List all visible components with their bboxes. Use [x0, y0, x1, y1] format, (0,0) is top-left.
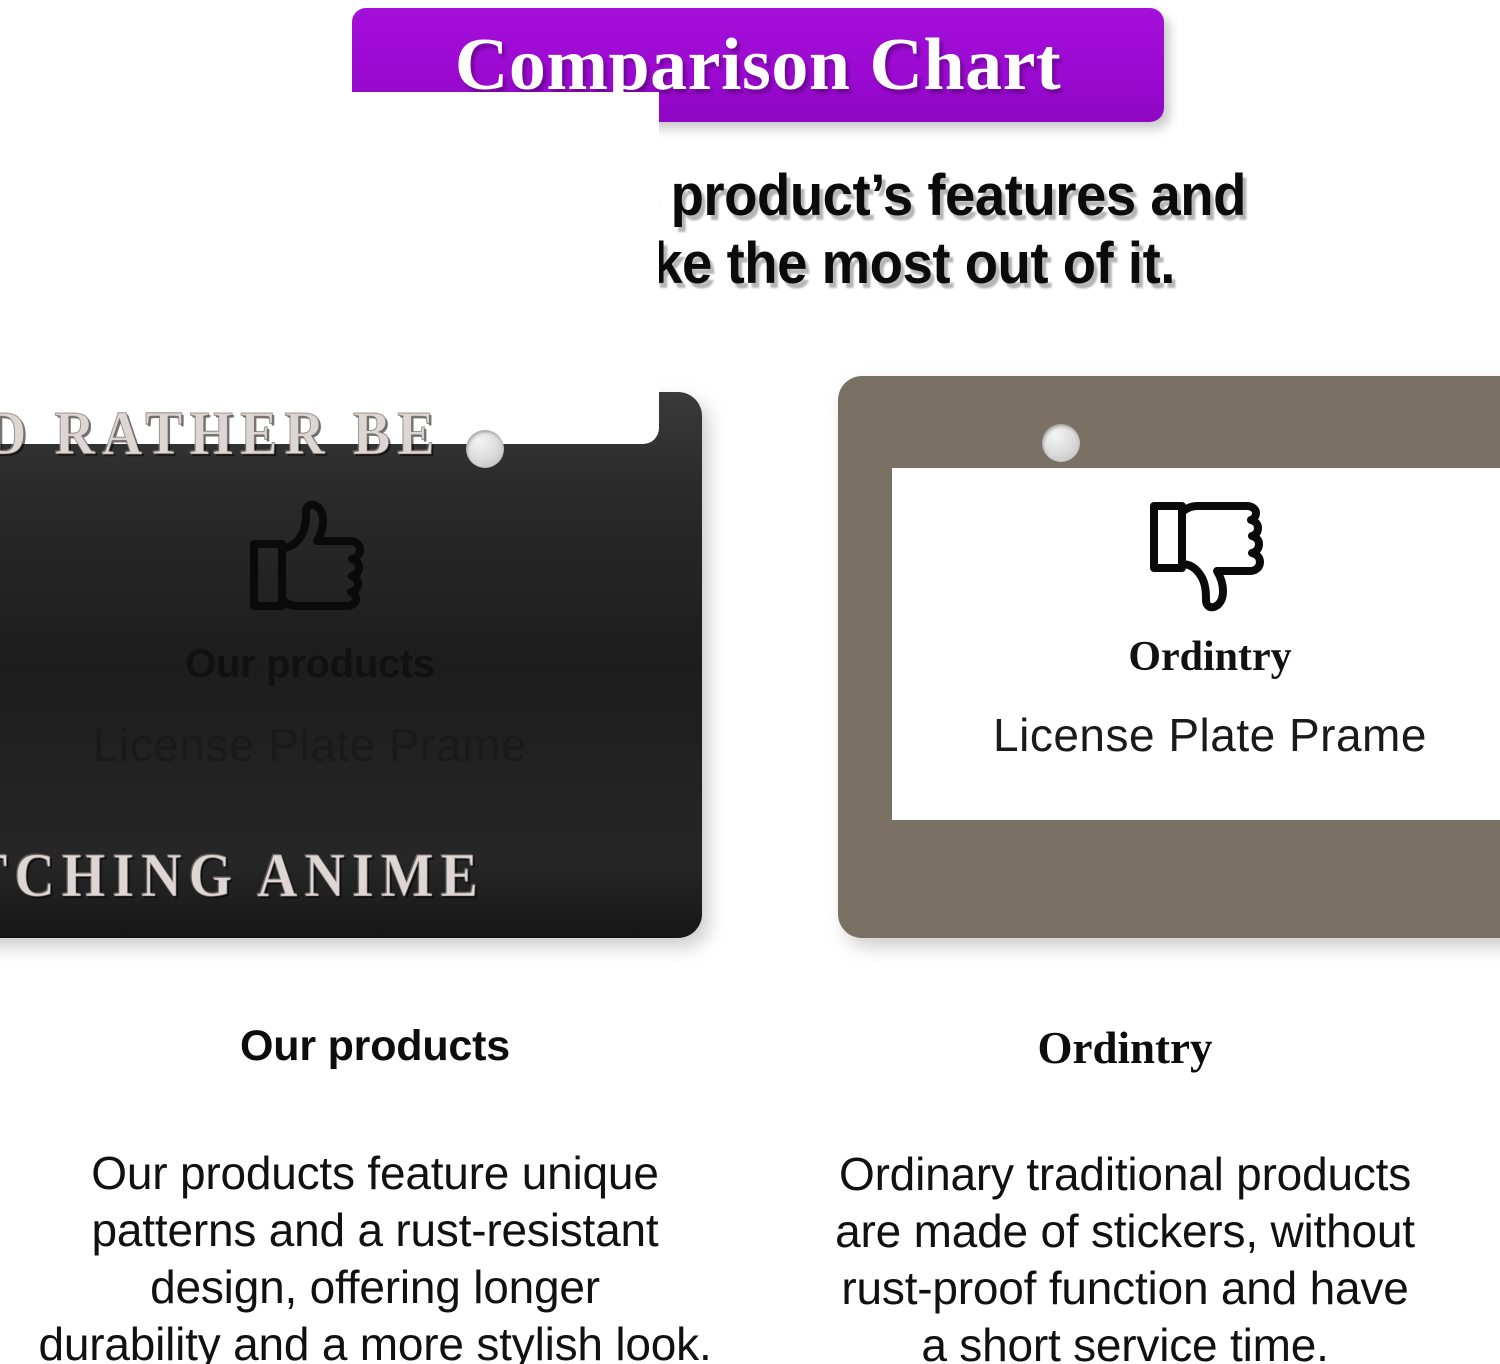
- our-product-type-label: License Plate Prame: [0, 720, 620, 771]
- column-body-our-products: Our products feature unique patterns and…: [36, 1145, 714, 1364]
- body-line: a short service time.: [786, 1317, 1464, 1364]
- our-product-brand-label: Our products: [0, 642, 620, 686]
- comparison-columns: Our products Our products feature unique…: [0, 1022, 1500, 1364]
- body-line: design, offering longer: [36, 1259, 714, 1316]
- ordinary-brand-label: Ordintry: [900, 634, 1500, 680]
- body-line: rust-proof function and have: [786, 1260, 1464, 1317]
- comparison-column-ordintry: Ordintry Ordinary traditional products a…: [750, 1022, 1500, 1364]
- body-line: patterns and a rust-resistant: [36, 1202, 714, 1259]
- ordinary-plate-content: Ordintry License Plate Prame: [900, 496, 1500, 761]
- our-product-plate-window: [0, 92, 659, 444]
- column-heading-our-products: Our products: [36, 1022, 714, 1071]
- page-title: Comparison Chart: [455, 28, 1061, 102]
- ordinary-type-label: License Plate Prame: [900, 710, 1500, 761]
- plate-lettering-top: D RATHER BE: [0, 398, 442, 470]
- body-line: are made of stickers, without: [786, 1203, 1464, 1260]
- our-product-plate-content: Our products License Plate Prame: [0, 500, 620, 771]
- mounting-hole-right: [1042, 424, 1080, 462]
- plate-lettering-bottom: TCHING ANIME: [0, 840, 485, 912]
- thumbs-up-icon: [246, 500, 374, 616]
- comparison-column-our-products: Our products Our products feature unique…: [0, 1022, 750, 1364]
- body-line: Ordinary traditional products: [786, 1146, 1464, 1203]
- our-product-plate-notch: [577, 92, 659, 146]
- body-line: Our products feature unique: [36, 1145, 714, 1202]
- body-line: durability and a more stylish look.: [36, 1316, 714, 1364]
- thumbs-down-icon: [1146, 496, 1274, 612]
- column-body-ordintry: Ordinary traditional products are made o…: [786, 1146, 1464, 1364]
- comparison-chart-page: Comparison Chart Get to know the product…: [0, 0, 1500, 1364]
- column-heading-ordintry: Ordintry: [786, 1022, 1464, 1074]
- mounting-hole-left: [466, 430, 504, 468]
